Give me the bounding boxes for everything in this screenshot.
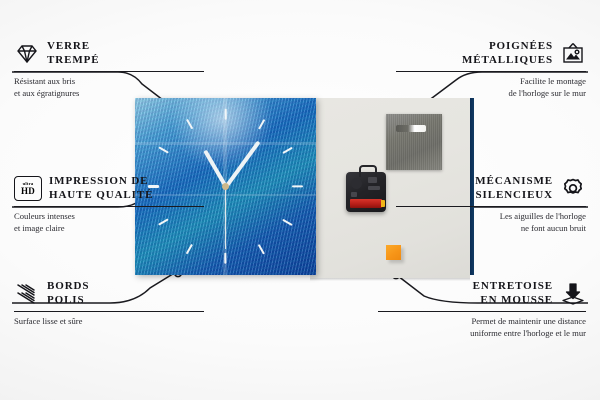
- clock-tick: [186, 243, 194, 254]
- feature-description: Permet de maintenir une distance uniform…: [378, 316, 586, 340]
- clock-tick: [186, 119, 194, 130]
- second-hand: [225, 187, 227, 249]
- mechanism-detail: [351, 192, 357, 197]
- clock-tick: [292, 185, 303, 187]
- feature-title: MÉCANISME SILENCIEUX: [475, 175, 553, 203]
- feature-rule: [396, 71, 586, 73]
- minute-hand: [224, 140, 260, 188]
- mechanism-hook: [359, 165, 377, 177]
- panel-seam: [135, 142, 316, 145]
- gear-icon: [560, 177, 586, 201]
- clock-hub: [222, 183, 229, 190]
- infographic-canvas: VERRE TREMPÉ Résistant aux bris et aux é…: [0, 0, 600, 400]
- feature-rule: [14, 311, 204, 313]
- feature-title: VERRE TREMPÉ: [47, 40, 99, 68]
- feature-title: BORDS POLIS: [47, 280, 89, 308]
- clock-tick: [282, 147, 293, 155]
- feature-mecanisme-silencieux: MÉCANISME SILENCIEUX Les aiguilles de l'…: [396, 175, 586, 235]
- mechanism-detail: [368, 186, 380, 190]
- clock-tick: [258, 243, 266, 254]
- diamond-icon: [14, 42, 40, 66]
- clock-tick: [282, 219, 293, 227]
- feature-impression-haute-qualite: ultra HD IMPRESSION DE HAUTE QUALITÉ Cou…: [14, 175, 204, 235]
- feature-description: Surface lisse et sûre: [14, 316, 204, 328]
- feature-description: Couleurs intenses et image claire: [14, 211, 204, 235]
- feature-title: POIGNÉES MÉTALLIQUES: [462, 40, 553, 68]
- feature-rule: [14, 71, 204, 73]
- clock-mechanism: [346, 172, 386, 212]
- metal-hanger-plate: [386, 114, 442, 170]
- feature-header: ENTRETOISE EN MOUSSE: [378, 280, 586, 308]
- feature-description: Facilite le montage de l'horloge sur le …: [396, 76, 586, 100]
- feature-poignees-metalliques: POIGNÉES MÉTALLIQUES Facilite le montage…: [396, 40, 586, 100]
- clock-tick: [258, 119, 266, 130]
- foam-spacer: [386, 245, 401, 260]
- polished-edges-icon: [14, 282, 40, 306]
- mechanism-shaft: [351, 178, 362, 189]
- feature-rule: [378, 311, 586, 313]
- feature-header: POIGNÉES MÉTALLIQUES: [396, 40, 586, 68]
- feature-entretoise-en-mousse: ENTRETOISE EN MOUSSE Permet de maintenir…: [378, 280, 586, 340]
- hanger-slot: [396, 125, 426, 132]
- feature-title: ENTRETOISE EN MOUSSE: [473, 280, 553, 308]
- mechanism-detail: [368, 177, 377, 183]
- feature-description: Les aiguilles de l'horloge ne font aucun…: [396, 211, 586, 235]
- feature-description: Résistant aux bris et aux égratignures: [14, 76, 204, 100]
- feature-header: VERRE TREMPÉ: [14, 40, 204, 68]
- ultra-hd-icon: ultra HD: [14, 176, 42, 201]
- feature-rule: [396, 206, 586, 208]
- battery: [350, 199, 382, 208]
- foam-spacer-icon: [560, 282, 586, 306]
- feature-rule: [14, 206, 204, 208]
- feature-header: MÉCANISME SILENCIEUX: [396, 175, 586, 203]
- feature-header: ultra HD IMPRESSION DE HAUTE QUALITÉ: [14, 175, 204, 203]
- clock-tick: [158, 147, 169, 155]
- picture-frame-hanger-icon: [560, 42, 586, 66]
- feature-verre-trempe: VERRE TREMPÉ Résistant aux bris et aux é…: [14, 40, 204, 100]
- feature-title: IMPRESSION DE HAUTE QUALITÉ: [49, 175, 153, 203]
- feature-bords-polis: BORDS POLIS Surface lisse et sûre: [14, 280, 204, 328]
- feature-header: BORDS POLIS: [14, 280, 204, 308]
- clock-tick: [224, 109, 226, 120]
